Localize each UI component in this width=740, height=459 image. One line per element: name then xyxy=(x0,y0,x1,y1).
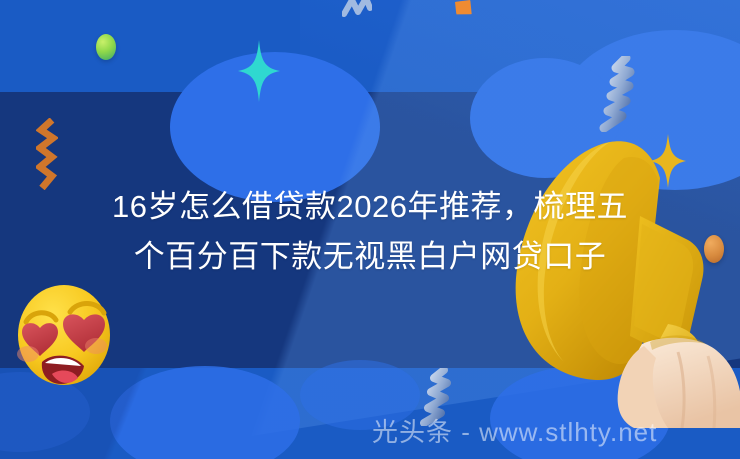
site-watermark: 光头条 - www.stlhty.net xyxy=(372,412,657,449)
background-arc-left xyxy=(170,52,380,202)
green-sphere-icon xyxy=(96,34,116,60)
promo-poster: 16岁怎么借贷款2026年推荐，梳理五 个百分百下款无视黑白户网贷口子 光头条 … xyxy=(0,0,740,459)
page-title: 16岁怎么借贷款2026年推荐，梳理五 个百分百下款无视黑白户网贷口子 xyxy=(0,182,740,282)
orange-zigzag-ribbon-icon xyxy=(36,118,58,190)
background-arc-center xyxy=(470,58,620,178)
